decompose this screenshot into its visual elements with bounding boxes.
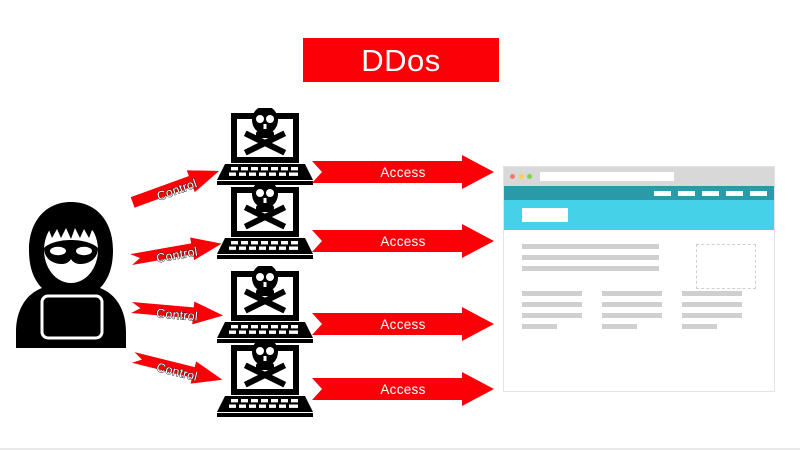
content-column-1 [522, 291, 582, 335]
control-arrow-4: Control [128, 344, 225, 399]
nav-item-3[interactable] [702, 191, 719, 196]
content-bar [602, 324, 637, 329]
target-browser-window [503, 166, 775, 392]
image-placeholder-box [696, 244, 756, 289]
address-bar[interactable] [540, 172, 675, 181]
content-column-2 [602, 291, 662, 335]
nav-item-5[interactable] [750, 191, 767, 196]
diagram-title-banner: DDos [303, 38, 499, 82]
bot-laptop-2 [217, 182, 313, 264]
content-bar [522, 266, 659, 271]
content-bar [522, 291, 582, 296]
content-columns [522, 291, 756, 335]
window-minimize-dot-icon[interactable] [519, 174, 524, 179]
content-bar [682, 324, 717, 329]
control-arrow-3: Control [130, 294, 225, 336]
bot-laptop-1 [217, 108, 313, 190]
content-bar [682, 313, 742, 318]
site-content [504, 230, 774, 335]
content-bar [602, 302, 662, 307]
window-maximize-dot-icon[interactable] [527, 174, 532, 179]
content-bar [522, 255, 659, 260]
content-bar [522, 244, 659, 249]
content-bar [682, 291, 742, 296]
site-hero-band [504, 200, 774, 230]
control-arrow-2: Control [129, 230, 226, 279]
nav-item-2[interactable] [678, 191, 695, 196]
nav-item-1[interactable] [654, 191, 671, 196]
browser-titlebar [504, 167, 774, 186]
content-bar [602, 313, 662, 318]
content-bar [522, 324, 557, 329]
ddos-diagram: DDos Control Control [0, 0, 800, 450]
content-column-3 [682, 291, 742, 335]
site-nav-bar [504, 186, 774, 200]
content-bar [682, 302, 742, 307]
content-bar [522, 302, 582, 307]
attacker-hacker-icon [12, 198, 130, 350]
access-arrow-3: Access [312, 307, 494, 341]
control-arrow-1: Control [128, 158, 226, 221]
content-bar [522, 313, 582, 318]
bot-laptop-3 [217, 266, 313, 348]
nav-item-4[interactable] [726, 191, 743, 196]
bot-laptop-4 [217, 340, 313, 422]
page-title: DDos [361, 45, 441, 76]
access-arrow-1: Access [312, 155, 494, 189]
site-logo [522, 208, 568, 222]
window-close-dot-icon[interactable] [510, 174, 515, 179]
access-arrow-4: Access [312, 372, 494, 406]
access-arrow-2: Access [312, 224, 494, 258]
content-bar [602, 291, 662, 296]
